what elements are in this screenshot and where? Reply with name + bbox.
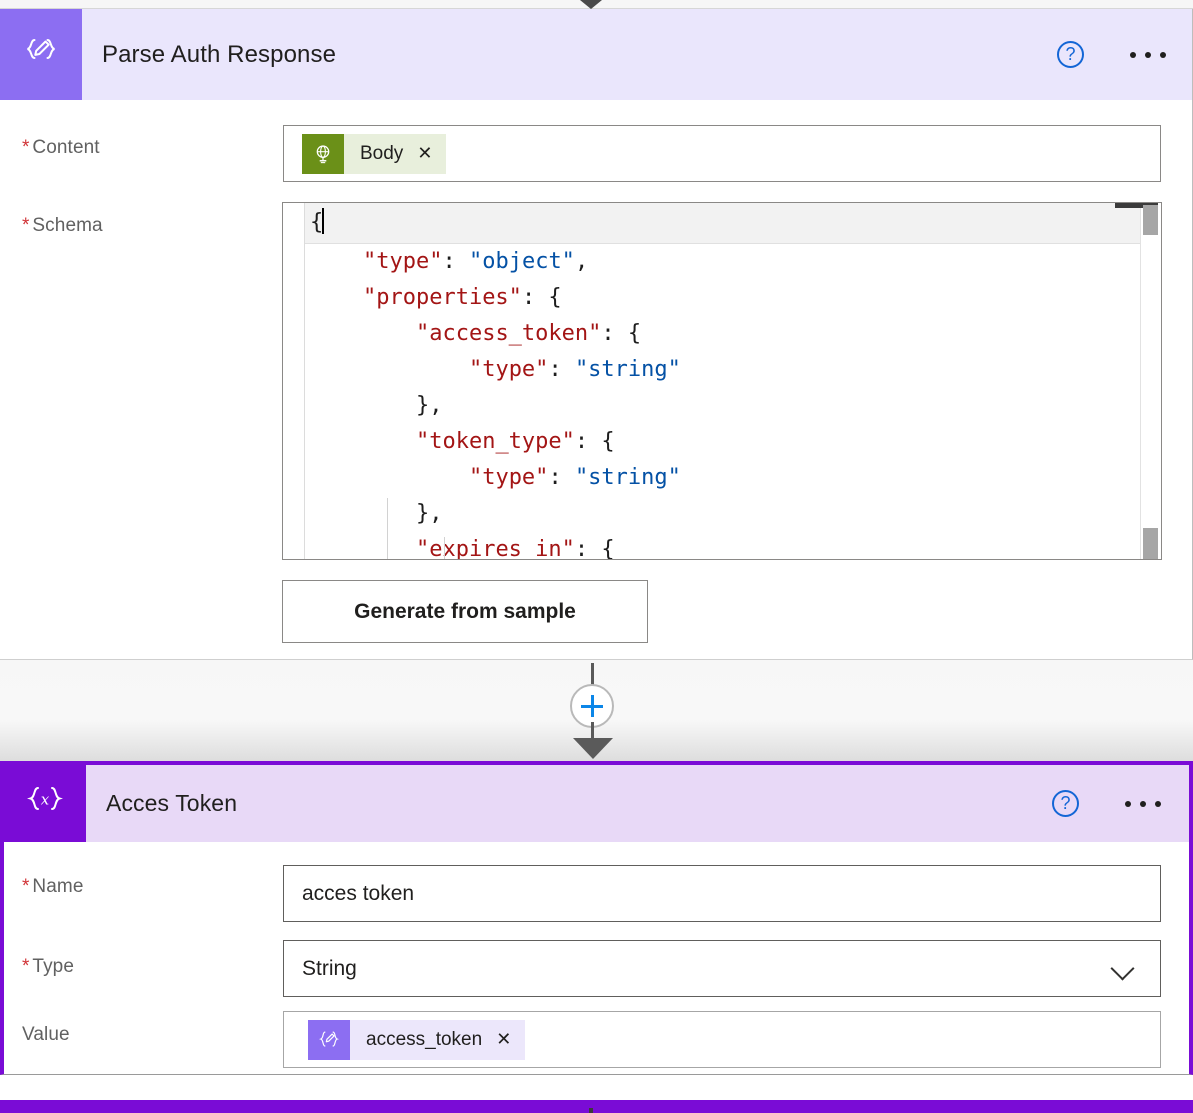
code-line: "type": "string": [306, 352, 1141, 388]
indent-guide: [444, 537, 445, 560]
more-options-icon[interactable]: [1128, 44, 1168, 66]
arrow-down-icon: [573, 738, 613, 759]
expression-icon: [308, 1020, 350, 1060]
dot: [1140, 801, 1146, 807]
code-line: "properties": {: [306, 280, 1141, 316]
connector-stub: [589, 1108, 593, 1113]
card-header-actions: ?: [1057, 9, 1168, 100]
dot: [1155, 801, 1161, 807]
schema-code-editor[interactable]: { "type": "object", "properties": { "acc…: [282, 202, 1162, 560]
token-remove-icon[interactable]: ✕: [496, 1029, 511, 1050]
field-label-content: * Content: [22, 137, 100, 159]
token-label: access_token ✕: [350, 1020, 525, 1060]
code-line: "expires_in": {: [306, 532, 1141, 560]
generate-from-sample-button[interactable]: Generate from sample: [282, 580, 648, 643]
card-title: Acces Token: [86, 790, 237, 817]
flow-designer-canvas: Parse Auth Response ? * Content: [0, 0, 1193, 1113]
code-line: "type": "object",: [306, 244, 1141, 280]
code-line: "token_type": {: [306, 424, 1141, 460]
code-line: "type": "string": [306, 460, 1141, 496]
top-connector-strip: [0, 0, 1193, 9]
token-access-token[interactable]: access_token ✕: [308, 1020, 525, 1060]
vertical-scrollbar[interactable]: [1140, 203, 1161, 559]
scrollbar-thumb[interactable]: [1143, 205, 1158, 235]
required-asterisk: *: [22, 956, 29, 978]
type-selected-value: String: [302, 957, 357, 981]
scrollbar-thumb-secondary[interactable]: [1143, 528, 1158, 559]
dot: [1125, 801, 1131, 807]
code-line: {: [306, 203, 1141, 244]
field-label-name: * Name: [22, 876, 84, 898]
arrow-down-icon: [580, 0, 602, 9]
token-body[interactable]: Body ✕: [302, 134, 446, 174]
editor-gutter: [283, 203, 305, 559]
code-line: },: [306, 388, 1141, 424]
required-asterisk: *: [22, 215, 29, 237]
indent-guide: [387, 498, 388, 560]
more-options-icon[interactable]: [1123, 793, 1163, 815]
initialize-variable-icon: x: [4, 765, 86, 842]
http-globe-icon: [302, 134, 344, 174]
field-label-schema: * Schema: [22, 215, 103, 237]
help-icon[interactable]: ?: [1052, 790, 1079, 817]
required-asterisk: *: [22, 137, 29, 159]
value-input[interactable]: access_token ✕: [283, 1011, 1161, 1068]
code-line: "access_token": {: [306, 316, 1141, 352]
type-dropdown[interactable]: String: [283, 940, 1161, 997]
required-asterisk: *: [22, 876, 29, 898]
field-label-type: * Type: [22, 956, 74, 978]
name-input[interactable]: acces token: [283, 865, 1161, 922]
next-step-connector-band: [0, 1100, 1193, 1113]
text-cursor: [322, 208, 324, 234]
card-header[interactable]: x Acces Token ?: [4, 765, 1189, 842]
content-input[interactable]: Body ✕: [283, 125, 1161, 182]
dot: [1160, 52, 1166, 58]
card-header[interactable]: Parse Auth Response ?: [0, 9, 1192, 100]
dot: [1145, 52, 1151, 58]
svg-text:x: x: [41, 790, 50, 808]
chevron-down-icon[interactable]: [1112, 958, 1134, 980]
token-remove-icon[interactable]: ✕: [417, 143, 432, 164]
action-card-parse-auth-response[interactable]: Parse Auth Response ? * Content: [0, 9, 1193, 660]
card-header-actions: ?: [1052, 765, 1163, 842]
editor-code-text[interactable]: { "type": "object", "properties": { "acc…: [306, 203, 1141, 560]
connector-line-top: [591, 663, 594, 685]
token-label: Body ✕: [344, 134, 446, 174]
card-title: Parse Auth Response: [82, 41, 336, 69]
parse-json-icon: [0, 9, 82, 100]
code-line: },: [306, 496, 1141, 532]
dot: [1130, 52, 1136, 58]
help-icon[interactable]: ?: [1057, 41, 1084, 68]
field-label-value: Value: [22, 1024, 70, 1046]
